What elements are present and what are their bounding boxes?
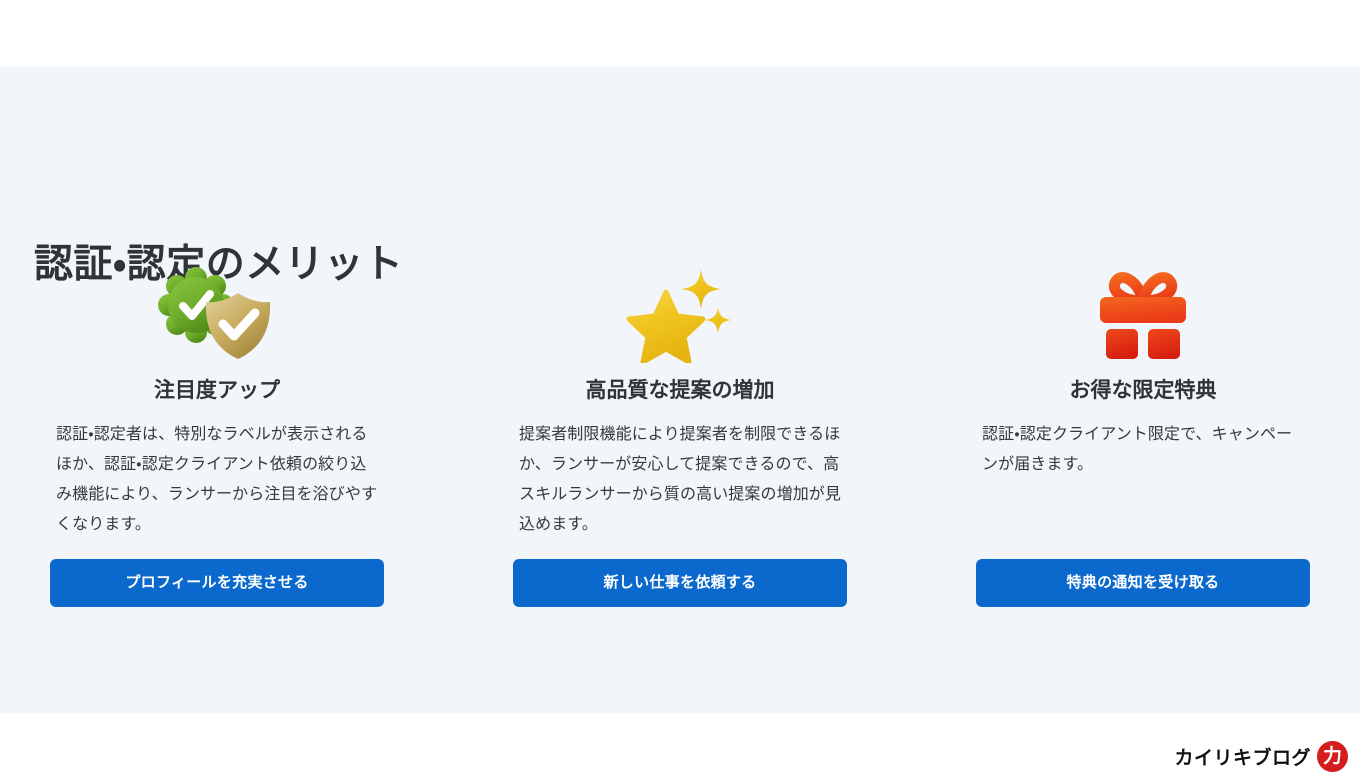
- brand-logo-icon: 力: [1317, 741, 1348, 772]
- benefit-card-body: 認証・認定クライアント限定で、キャンペーンが届きます。: [982, 420, 1304, 480]
- benefit-card-title: 注目度アップ: [154, 378, 280, 403]
- benefit-card-title: 高品質な提案の増加: [586, 378, 775, 403]
- gift-box-icon: [1083, 265, 1203, 365]
- verified-badge-shield-icon: [157, 265, 277, 365]
- receive-perk-notifications-button[interactable]: 特典の通知を受け取る: [976, 559, 1310, 607]
- benefit-card-body: 認証・認定者は、特別なラベルが表示されるほか、認証・認定クライアント依頼の絞り込…: [56, 420, 378, 540]
- cutoff-content-fragment-left: [300, 0, 390, 2]
- site-watermark: カイリキブログ 力: [1174, 741, 1348, 772]
- watermark-label: カイリキブログ: [1174, 743, 1311, 770]
- request-new-job-button[interactable]: 新しい仕事を依頼する: [513, 559, 847, 607]
- benefit-card-grid: 注目度アップ 認証・認定者は、特別なラベルが表示されるほか、認証・認定クライアン…: [34, 265, 1326, 607]
- brand-logo-glyph: 力: [1317, 741, 1348, 772]
- footer-band: カイリキブログ 力: [0, 713, 1360, 780]
- benefit-card-exclusive-perks: お得な限定特典 認証・認定クライアント限定で、キャンペーンが届きます。 特典の通…: [960, 265, 1326, 607]
- benefits-section: 認証・認定のメリット: [0, 67, 1360, 713]
- benefit-card-title: お得な限定特典: [1070, 378, 1217, 403]
- page-root: 認証・認定のメリット: [0, 0, 1360, 780]
- benefit-card-quality-proposals: 高品質な提案の増加 提案者制限機能により提案者を制限できるほか、ランサーが安心し…: [497, 265, 863, 607]
- enrich-profile-button[interactable]: プロフィールを充実させる: [50, 559, 384, 607]
- cutoff-content-fragment-right: [1020, 0, 1110, 2]
- benefit-card-attention: 注目度アップ 認証・認定者は、特別なラベルが表示されるほか、認証・認定クライアン…: [34, 265, 400, 607]
- top-cutoff-band: [0, 0, 1360, 67]
- star-sparkle-icon: [620, 265, 740, 365]
- benefit-card-body: 提案者制限機能により提案者を制限できるほか、ランサーが安心して提案できるので、高…: [519, 420, 841, 540]
